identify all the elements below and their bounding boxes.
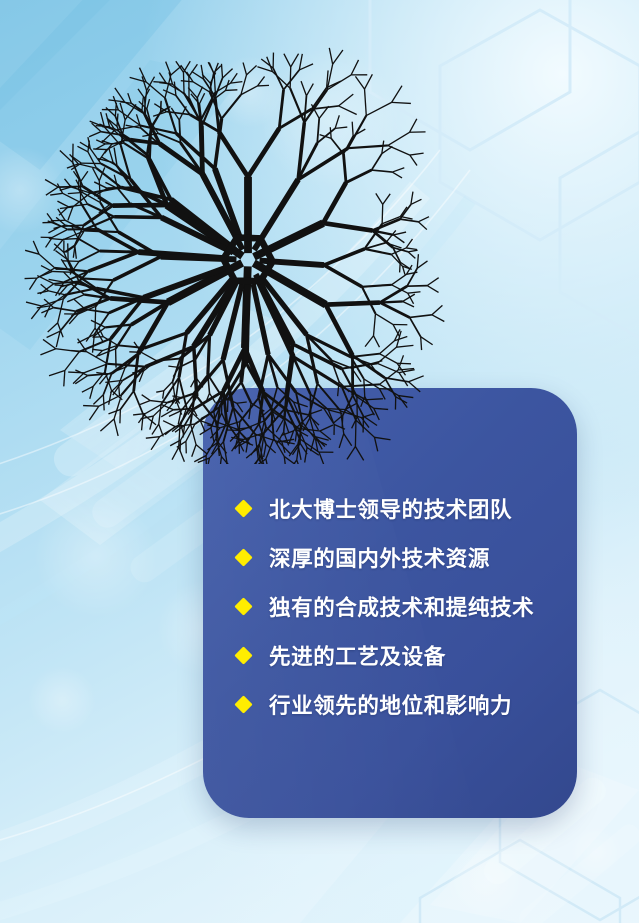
feature-item-label: 行业领先的地位和影响力 xyxy=(269,689,512,720)
feature-item-label: 先进的工艺及设备 xyxy=(269,640,446,671)
feature-list-item: 独有的合成技术和提纯技术 xyxy=(237,582,561,631)
feature-item-label: 深厚的国内外技术资源 xyxy=(269,542,490,573)
diamond-bullet-icon xyxy=(234,548,252,566)
diamond-bullet-icon xyxy=(234,646,252,664)
feature-list-item: 行业领先的地位和影响力 xyxy=(237,680,561,729)
diamond-bullet-icon xyxy=(234,695,252,713)
feature-list-item: 先进的工艺及设备 xyxy=(237,631,561,680)
radial-fractal-tree-icon xyxy=(18,44,478,464)
poster-canvas: 北大博士领导的技术团队深厚的国内外技术资源独有的合成技术和提纯技术先进的工艺及设… xyxy=(0,0,639,923)
feature-item-label: 北大博士领导的技术团队 xyxy=(269,493,512,524)
feature-list-item: 深厚的国内外技术资源 xyxy=(237,533,561,582)
feature-list: 北大博士领导的技术团队深厚的国内外技术资源独有的合成技术和提纯技术先进的工艺及设… xyxy=(237,484,561,729)
feature-item-label: 独有的合成技术和提纯技术 xyxy=(269,591,534,622)
feature-list-item: 北大博士领导的技术团队 xyxy=(237,484,561,533)
diamond-bullet-icon xyxy=(234,597,252,615)
diamond-bullet-icon xyxy=(234,499,252,517)
